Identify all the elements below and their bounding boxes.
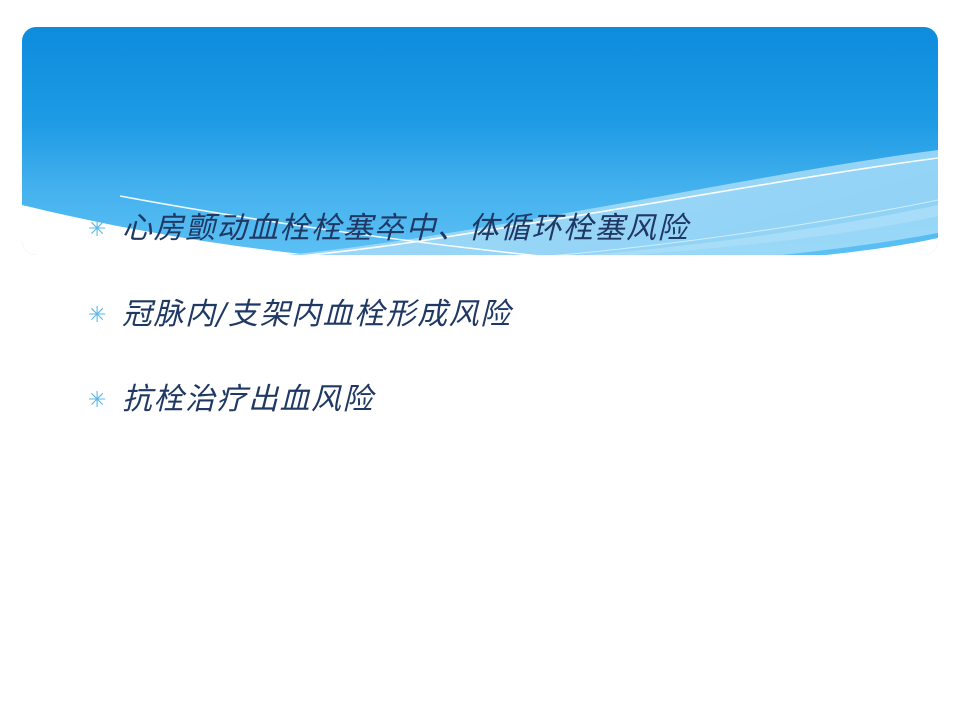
asterisk-bullet-icon: ✳: [88, 305, 122, 327]
asterisk-bullet-icon: ✳: [88, 390, 122, 412]
bullet-text: 心房颤动血栓栓塞卒中、体循环栓塞风险: [122, 210, 689, 248]
slide-banner-graphic: [0, 0, 960, 720]
banner-light-wave: [185, 150, 938, 265]
list-item: ✳ 心房颤动血栓栓塞卒中、体循环栓塞风险: [88, 210, 689, 248]
presentation-slide: ✳ 心房颤动血栓栓塞卒中、体循环栓塞风险 ✳ 冠脉内/支架内血栓形成风险 ✳ 抗…: [0, 0, 960, 720]
bullet-text: 冠脉内/支架内血栓形成风险: [122, 296, 512, 334]
list-item: ✳ 冠脉内/支架内血栓形成风险: [88, 296, 512, 334]
asterisk-bullet-icon: ✳: [88, 219, 122, 241]
list-item: ✳ 抗栓治疗出血风险: [88, 381, 374, 419]
bullet-text: 抗栓治疗出血风险: [122, 381, 374, 419]
banner-clipped-artwork: [22, 27, 938, 300]
